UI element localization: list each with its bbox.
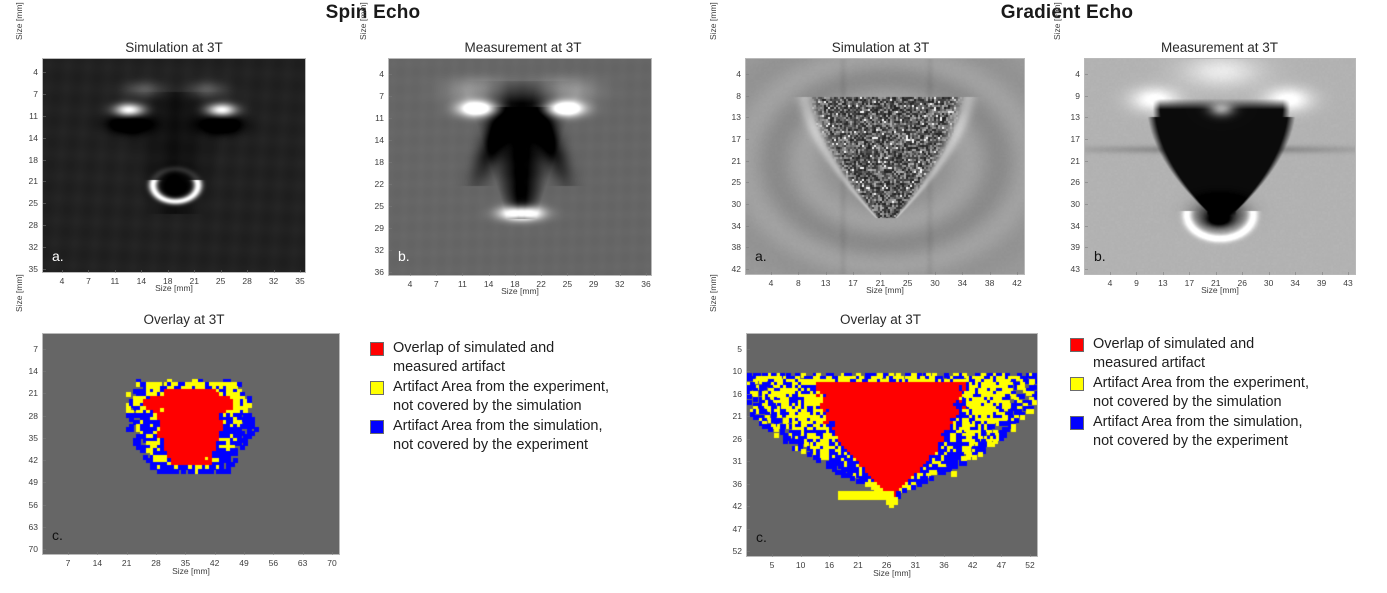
xtick-label: 25 bbox=[903, 278, 912, 288]
legend-gradient-echo: Overlap of simulated and measured artifa… bbox=[1070, 335, 1387, 452]
xtick-mark bbox=[962, 272, 963, 275]
ytick-mark bbox=[43, 181, 46, 182]
ytick-mark bbox=[389, 118, 392, 119]
xtick-label: 42 bbox=[968, 560, 977, 570]
ytick-mark bbox=[389, 184, 392, 185]
xtick-label: 10 bbox=[796, 560, 805, 570]
xtick-mark bbox=[798, 272, 799, 275]
xtick-mark bbox=[194, 270, 195, 273]
ytick-mark bbox=[747, 439, 750, 440]
image-ge-measurement bbox=[1084, 58, 1356, 275]
xtick-label: 21 bbox=[189, 276, 198, 286]
ytick-mark bbox=[43, 247, 46, 248]
xtick-mark bbox=[1017, 272, 1018, 275]
ytick-mark bbox=[1085, 204, 1088, 205]
xtick-label: 28 bbox=[151, 558, 160, 568]
ytick-label: 47 bbox=[727, 524, 742, 534]
ytick-label: 39 bbox=[1065, 242, 1080, 252]
xtick-label: 30 bbox=[1264, 278, 1273, 288]
legend-swatch-overlap-icon bbox=[1070, 338, 1084, 352]
panel-title-se-simulation: Simulation at 3T bbox=[14, 40, 334, 55]
ylabel-se-overlay: Size [mm] bbox=[14, 0, 24, 312]
legend-item: Artifact Area from the simulation, not c… bbox=[370, 417, 690, 455]
panel-title-se-measurement: Measurement at 3T bbox=[358, 40, 688, 55]
image-se-overlay bbox=[42, 333, 340, 555]
ytick-label: 21 bbox=[23, 176, 38, 186]
panel-letter-se-simulation: a. bbox=[52, 248, 64, 264]
xtick-label: 17 bbox=[848, 278, 857, 288]
xtick-label: 11 bbox=[458, 279, 467, 289]
xtick-mark bbox=[1030, 554, 1031, 557]
legend-swatch-overlap-icon bbox=[370, 342, 384, 356]
xtick-label: 36 bbox=[939, 560, 948, 570]
xtick-mark bbox=[303, 552, 304, 555]
xtick-label: 35 bbox=[181, 558, 190, 568]
ytick-label: 63 bbox=[23, 522, 38, 532]
ytick-mark bbox=[1085, 269, 1088, 270]
xtick-mark bbox=[935, 272, 936, 275]
ytick-mark bbox=[746, 139, 749, 140]
xtick-mark bbox=[944, 554, 945, 557]
section-title-gradient-echo: Gradient Echo bbox=[942, 2, 1192, 24]
xtick-mark bbox=[880, 272, 881, 275]
ytick-mark bbox=[389, 250, 392, 251]
xtick-mark bbox=[221, 270, 222, 273]
ytick-mark bbox=[1085, 74, 1088, 75]
ytick-mark bbox=[43, 203, 46, 204]
panel-title-ge-measurement: Measurement at 3T bbox=[1052, 40, 1387, 55]
xtick-mark bbox=[887, 554, 888, 557]
ytick-label: 11 bbox=[23, 111, 38, 121]
xtick-mark bbox=[332, 552, 333, 555]
ytick-mark bbox=[389, 228, 392, 229]
xtick-mark bbox=[858, 554, 859, 557]
ytick-label: 28 bbox=[23, 411, 38, 421]
xtick-mark bbox=[88, 270, 89, 273]
ytick-label: 70 bbox=[23, 544, 38, 554]
ytick-mark bbox=[747, 416, 750, 417]
xtick-label: 63 bbox=[298, 558, 307, 568]
ytick-label: 52 bbox=[727, 546, 742, 556]
xtick-mark bbox=[185, 552, 186, 555]
xtick-label: 26 bbox=[1237, 278, 1246, 288]
xtick-mark bbox=[62, 270, 63, 273]
legend-swatch-simulation-icon bbox=[370, 420, 384, 434]
panel-title-ge-overlay: Overlay at 3T bbox=[708, 312, 1053, 327]
panel-letter-se-overlay: c. bbox=[52, 527, 63, 543]
ytick-label: 25 bbox=[23, 198, 38, 208]
ytick-mark bbox=[43, 482, 46, 483]
xlabel-se-simulation: Size [mm] bbox=[42, 283, 306, 293]
xtick-label: 7 bbox=[66, 558, 71, 568]
xtick-label: 9 bbox=[1134, 278, 1139, 288]
xtick-label: 4 bbox=[1108, 278, 1113, 288]
legend-item: Overlap of simulated and measured artifa… bbox=[1070, 335, 1387, 373]
ytick-label: 49 bbox=[23, 477, 38, 487]
ytick-label: 5 bbox=[727, 344, 742, 354]
xtick-label: 34 bbox=[958, 278, 967, 288]
legend-item: Overlap of simulated and measured artifa… bbox=[370, 339, 690, 377]
ytick-label: 25 bbox=[369, 201, 384, 211]
ytick-label: 21 bbox=[1065, 156, 1080, 166]
panel-title-ge-simulation: Simulation at 3T bbox=[708, 40, 1053, 55]
xtick-label: 14 bbox=[93, 558, 102, 568]
xtick-label: 21 bbox=[1211, 278, 1220, 288]
xtick-mark bbox=[156, 552, 157, 555]
ytick-label: 29 bbox=[369, 223, 384, 233]
xtick-label: 35 bbox=[295, 276, 304, 286]
xtick-label: 4 bbox=[408, 279, 413, 289]
ytick-label: 32 bbox=[369, 245, 384, 255]
ytick-mark bbox=[389, 140, 392, 141]
ytick-mark bbox=[1085, 96, 1088, 97]
ytick-label: 56 bbox=[23, 500, 38, 510]
panel-letter-se-measurement: b. bbox=[398, 248, 410, 264]
xtick-label: 25 bbox=[563, 279, 572, 289]
xtick-label: 42 bbox=[1012, 278, 1021, 288]
ytick-label: 35 bbox=[23, 433, 38, 443]
panel-letter-ge-overlay: c. bbox=[756, 529, 767, 545]
ytick-label: 7 bbox=[23, 344, 38, 354]
ytick-label: 13 bbox=[1065, 112, 1080, 122]
ytick-mark bbox=[43, 225, 46, 226]
ytick-mark bbox=[389, 206, 392, 207]
legend-label-overlap: Overlap of simulated and measured artifa… bbox=[393, 339, 554, 377]
legend-item: Artifact Area from the simulation, not c… bbox=[1070, 413, 1387, 451]
xtick-mark bbox=[215, 552, 216, 555]
xtick-label: 18 bbox=[510, 279, 519, 289]
ytick-label: 7 bbox=[369, 91, 384, 101]
ytick-mark bbox=[1085, 182, 1088, 183]
ytick-mark bbox=[43, 371, 46, 372]
ytick-label: 34 bbox=[726, 221, 741, 231]
xtick-label: 25 bbox=[216, 276, 225, 286]
legend-label-experiment: Artifact Area from the experiment, not c… bbox=[393, 378, 609, 416]
xtick-label: 32 bbox=[615, 279, 624, 289]
image-ge-simulation bbox=[745, 58, 1025, 275]
xtick-mark bbox=[141, 270, 142, 273]
legend-swatch-experiment-icon bbox=[1070, 377, 1084, 391]
ytick-label: 32 bbox=[23, 242, 38, 252]
xtick-mark bbox=[826, 272, 827, 275]
ytick-label: 16 bbox=[727, 389, 742, 399]
ytick-mark bbox=[1085, 161, 1088, 162]
ytick-label: 13 bbox=[726, 112, 741, 122]
xtick-mark bbox=[541, 273, 542, 276]
ytick-mark bbox=[747, 506, 750, 507]
ytick-mark bbox=[746, 182, 749, 183]
xtick-mark bbox=[244, 552, 245, 555]
xtick-label: 11 bbox=[110, 276, 119, 286]
ytick-label: 17 bbox=[1065, 134, 1080, 144]
xtick-mark bbox=[515, 273, 516, 276]
panel-title-se-overlay: Overlay at 3T bbox=[14, 312, 354, 327]
xtick-label: 7 bbox=[86, 276, 91, 286]
ytick-mark bbox=[746, 247, 749, 248]
xtick-label: 43 bbox=[1343, 278, 1352, 288]
image-se-simulation bbox=[42, 58, 306, 273]
panel-se-overlay: Overlay at 3T c. Size [mm] Size [mm] 714… bbox=[14, 312, 354, 592]
legend-label-experiment: Artifact Area from the experiment, not c… bbox=[1093, 374, 1309, 412]
ytick-mark bbox=[389, 272, 392, 273]
xtick-label: 30 bbox=[930, 278, 939, 288]
ytick-label: 25 bbox=[726, 177, 741, 187]
xtick-mark bbox=[772, 554, 773, 557]
xtick-label: 7 bbox=[434, 279, 439, 289]
xtick-mark bbox=[567, 273, 568, 276]
xtick-label: 34 bbox=[1290, 278, 1299, 288]
xtick-mark bbox=[247, 270, 248, 273]
legend-swatch-experiment-icon bbox=[370, 381, 384, 395]
xtick-label: 18 bbox=[163, 276, 172, 286]
legend-item: Artifact Area from the experiment, not c… bbox=[370, 378, 690, 416]
xtick-mark bbox=[1322, 272, 1323, 275]
ytick-label: 36 bbox=[369, 267, 384, 277]
xtick-label: 42 bbox=[210, 558, 219, 568]
xtick-mark bbox=[1110, 272, 1111, 275]
ytick-mark bbox=[747, 551, 750, 552]
ytick-label: 14 bbox=[23, 133, 38, 143]
xlabel-se-measurement: Size [mm] bbox=[388, 286, 652, 296]
ytick-mark bbox=[747, 349, 750, 350]
xtick-mark bbox=[801, 554, 802, 557]
ytick-mark bbox=[746, 226, 749, 227]
xtick-mark bbox=[489, 273, 490, 276]
xtick-label: 36 bbox=[641, 279, 650, 289]
xtick-label: 14 bbox=[137, 276, 146, 286]
ytick-mark bbox=[746, 117, 749, 118]
legend-swatch-simulation-icon bbox=[1070, 416, 1084, 430]
xtick-label: 47 bbox=[997, 560, 1006, 570]
xtick-mark bbox=[274, 270, 275, 273]
ylabel-se-measurement: Size [mm] bbox=[358, 0, 368, 40]
xtick-label: 49 bbox=[239, 558, 248, 568]
ytick-label: 4 bbox=[1065, 69, 1080, 79]
xtick-mark bbox=[1001, 554, 1002, 557]
xtick-label: 38 bbox=[985, 278, 994, 288]
xtick-mark bbox=[1269, 272, 1270, 275]
ytick-mark bbox=[746, 204, 749, 205]
xtick-label: 29 bbox=[589, 279, 598, 289]
ytick-label: 4 bbox=[726, 69, 741, 79]
ytick-mark bbox=[747, 371, 750, 372]
ytick-mark bbox=[43, 438, 46, 439]
figure-root: Spin Echo Gradient Echo Simulation at 3T… bbox=[0, 0, 1387, 593]
xtick-mark bbox=[594, 273, 595, 276]
ytick-label: 35 bbox=[23, 264, 38, 274]
xtick-mark bbox=[620, 273, 621, 276]
ytick-mark bbox=[43, 505, 46, 506]
xtick-label: 8 bbox=[796, 278, 801, 288]
xtick-label: 39 bbox=[1317, 278, 1326, 288]
ytick-label: 7 bbox=[23, 89, 38, 99]
xtick-label: 17 bbox=[1185, 278, 1194, 288]
xtick-mark bbox=[462, 273, 463, 276]
xtick-mark bbox=[990, 272, 991, 275]
xtick-mark bbox=[915, 554, 916, 557]
ytick-label: 38 bbox=[726, 242, 741, 252]
ytick-label: 22 bbox=[369, 179, 384, 189]
xtick-label: 14 bbox=[484, 279, 493, 289]
ylabel-ge-overlay: Size [mm] bbox=[708, 0, 718, 312]
ytick-mark bbox=[746, 161, 749, 162]
ytick-label: 18 bbox=[369, 157, 384, 167]
ytick-label: 42 bbox=[23, 455, 38, 465]
ytick-label: 43 bbox=[1065, 264, 1080, 274]
ytick-label: 17 bbox=[726, 134, 741, 144]
ytick-label: 42 bbox=[726, 264, 741, 274]
legend-spin-echo: Overlap of simulated and measured artifa… bbox=[370, 339, 690, 456]
ytick-label: 8 bbox=[726, 91, 741, 101]
legend-label-overlap: Overlap of simulated and measured artifa… bbox=[1093, 335, 1254, 373]
xtick-label: 5 bbox=[770, 560, 775, 570]
xtick-label: 22 bbox=[536, 279, 545, 289]
ytick-label: 21 bbox=[727, 411, 742, 421]
ytick-label: 42 bbox=[727, 501, 742, 511]
ytick-label: 21 bbox=[23, 388, 38, 398]
ytick-label: 4 bbox=[23, 67, 38, 77]
ytick-mark bbox=[747, 461, 750, 462]
panel-ge-simulation: Simulation at 3T a. Size [mm] Size [mm] … bbox=[708, 40, 1053, 290]
xtick-label: 16 bbox=[825, 560, 834, 570]
xtick-mark bbox=[853, 272, 854, 275]
ytick-mark bbox=[43, 269, 46, 270]
panel-se-simulation: Simulation at 3T a. Size [mm] Size [mm] … bbox=[14, 40, 334, 290]
ytick-mark bbox=[43, 72, 46, 73]
ytick-label: 28 bbox=[23, 220, 38, 230]
xtick-mark bbox=[1189, 272, 1190, 275]
ytick-label: 30 bbox=[1065, 199, 1080, 209]
ytick-label: 18 bbox=[23, 155, 38, 165]
ytick-label: 4 bbox=[369, 69, 384, 79]
legend-item: Artifact Area from the experiment, not c… bbox=[1070, 374, 1387, 412]
ytick-mark bbox=[43, 349, 46, 350]
xtick-mark bbox=[300, 270, 301, 273]
ytick-mark bbox=[43, 527, 46, 528]
ytick-mark bbox=[747, 529, 750, 530]
xlabel-se-overlay: Size [mm] bbox=[42, 566, 340, 576]
panel-letter-ge-simulation: a. bbox=[755, 248, 767, 264]
ytick-mark bbox=[1085, 139, 1088, 140]
xtick-label: 52 bbox=[1025, 560, 1034, 570]
xtick-label: 21 bbox=[853, 560, 862, 570]
ytick-mark bbox=[389, 74, 392, 75]
xtick-mark bbox=[115, 270, 116, 273]
ytick-mark bbox=[1085, 117, 1088, 118]
xtick-mark bbox=[168, 270, 169, 273]
legend-label-simulation: Artifact Area from the simulation, not c… bbox=[393, 417, 603, 455]
xtick-label: 31 bbox=[911, 560, 920, 570]
ytick-label: 36 bbox=[727, 479, 742, 489]
xtick-label: 21 bbox=[876, 278, 885, 288]
xtick-mark bbox=[1163, 272, 1164, 275]
xtick-label: 32 bbox=[269, 276, 278, 286]
image-ge-overlay bbox=[746, 333, 1038, 557]
xtick-label: 28 bbox=[242, 276, 251, 286]
xtick-label: 4 bbox=[60, 276, 65, 286]
xtick-mark bbox=[1348, 272, 1349, 275]
xlabel-ge-overlay: Size [mm] bbox=[746, 568, 1038, 578]
xtick-label: 4 bbox=[769, 278, 774, 288]
xtick-label: 56 bbox=[269, 558, 278, 568]
panel-ge-overlay: Overlay at 3T c. Size [mm] Size [mm] 510… bbox=[708, 312, 1053, 592]
xtick-mark bbox=[68, 552, 69, 555]
ytick-mark bbox=[1085, 247, 1088, 248]
ytick-mark bbox=[389, 162, 392, 163]
ytick-label: 14 bbox=[369, 135, 384, 145]
ytick-mark bbox=[389, 96, 392, 97]
ytick-mark bbox=[746, 96, 749, 97]
xtick-label: 21 bbox=[122, 558, 131, 568]
ylabel-ge-measurement: Size [mm] bbox=[1052, 0, 1062, 40]
xtick-mark bbox=[1216, 272, 1217, 275]
xtick-mark bbox=[410, 273, 411, 276]
ytick-mark bbox=[43, 393, 46, 394]
ytick-label: 14 bbox=[23, 366, 38, 376]
image-se-measurement bbox=[388, 58, 652, 276]
xtick-label: 26 bbox=[882, 560, 891, 570]
ytick-label: 30 bbox=[726, 199, 741, 209]
xtick-mark bbox=[1242, 272, 1243, 275]
ytick-mark bbox=[43, 160, 46, 161]
ytick-mark bbox=[43, 549, 46, 550]
ytick-label: 10 bbox=[727, 366, 742, 376]
ytick-mark bbox=[1085, 226, 1088, 227]
xtick-label: 13 bbox=[1158, 278, 1167, 288]
xtick-mark bbox=[436, 273, 437, 276]
ytick-label: 9 bbox=[1065, 91, 1080, 101]
xtick-label: 13 bbox=[821, 278, 830, 288]
ytick-mark bbox=[43, 460, 46, 461]
ytick-label: 21 bbox=[726, 156, 741, 166]
xtick-label: 70 bbox=[327, 558, 336, 568]
ytick-mark bbox=[43, 138, 46, 139]
section-title-spin-echo: Spin Echo bbox=[248, 2, 498, 24]
panel-ge-measurement: Measurement at 3T b. Size [mm] Size [mm]… bbox=[1052, 40, 1387, 290]
ytick-label: 31 bbox=[727, 456, 742, 466]
ytick-label: 26 bbox=[1065, 177, 1080, 187]
ytick-mark bbox=[746, 74, 749, 75]
ytick-mark bbox=[43, 416, 46, 417]
ytick-label: 34 bbox=[1065, 221, 1080, 231]
legend-label-simulation: Artifact Area from the simulation, not c… bbox=[1093, 413, 1303, 451]
ytick-label: 26 bbox=[727, 434, 742, 444]
xtick-mark bbox=[646, 273, 647, 276]
xtick-mark bbox=[973, 554, 974, 557]
ytick-mark bbox=[747, 484, 750, 485]
xtick-mark bbox=[1295, 272, 1296, 275]
panel-se-measurement: Measurement at 3T b. Size [mm] Size [mm]… bbox=[358, 40, 688, 290]
xtick-mark bbox=[273, 552, 274, 555]
ytick-mark bbox=[43, 116, 46, 117]
ytick-mark bbox=[746, 269, 749, 270]
panel-letter-ge-measurement: b. bbox=[1094, 248, 1106, 264]
xtick-mark bbox=[771, 272, 772, 275]
xtick-mark bbox=[1136, 272, 1137, 275]
xtick-mark bbox=[908, 272, 909, 275]
ytick-mark bbox=[43, 94, 46, 95]
ytick-mark bbox=[747, 394, 750, 395]
xtick-mark bbox=[127, 552, 128, 555]
xtick-mark bbox=[97, 552, 98, 555]
xtick-mark bbox=[829, 554, 830, 557]
ytick-label: 11 bbox=[369, 113, 384, 123]
